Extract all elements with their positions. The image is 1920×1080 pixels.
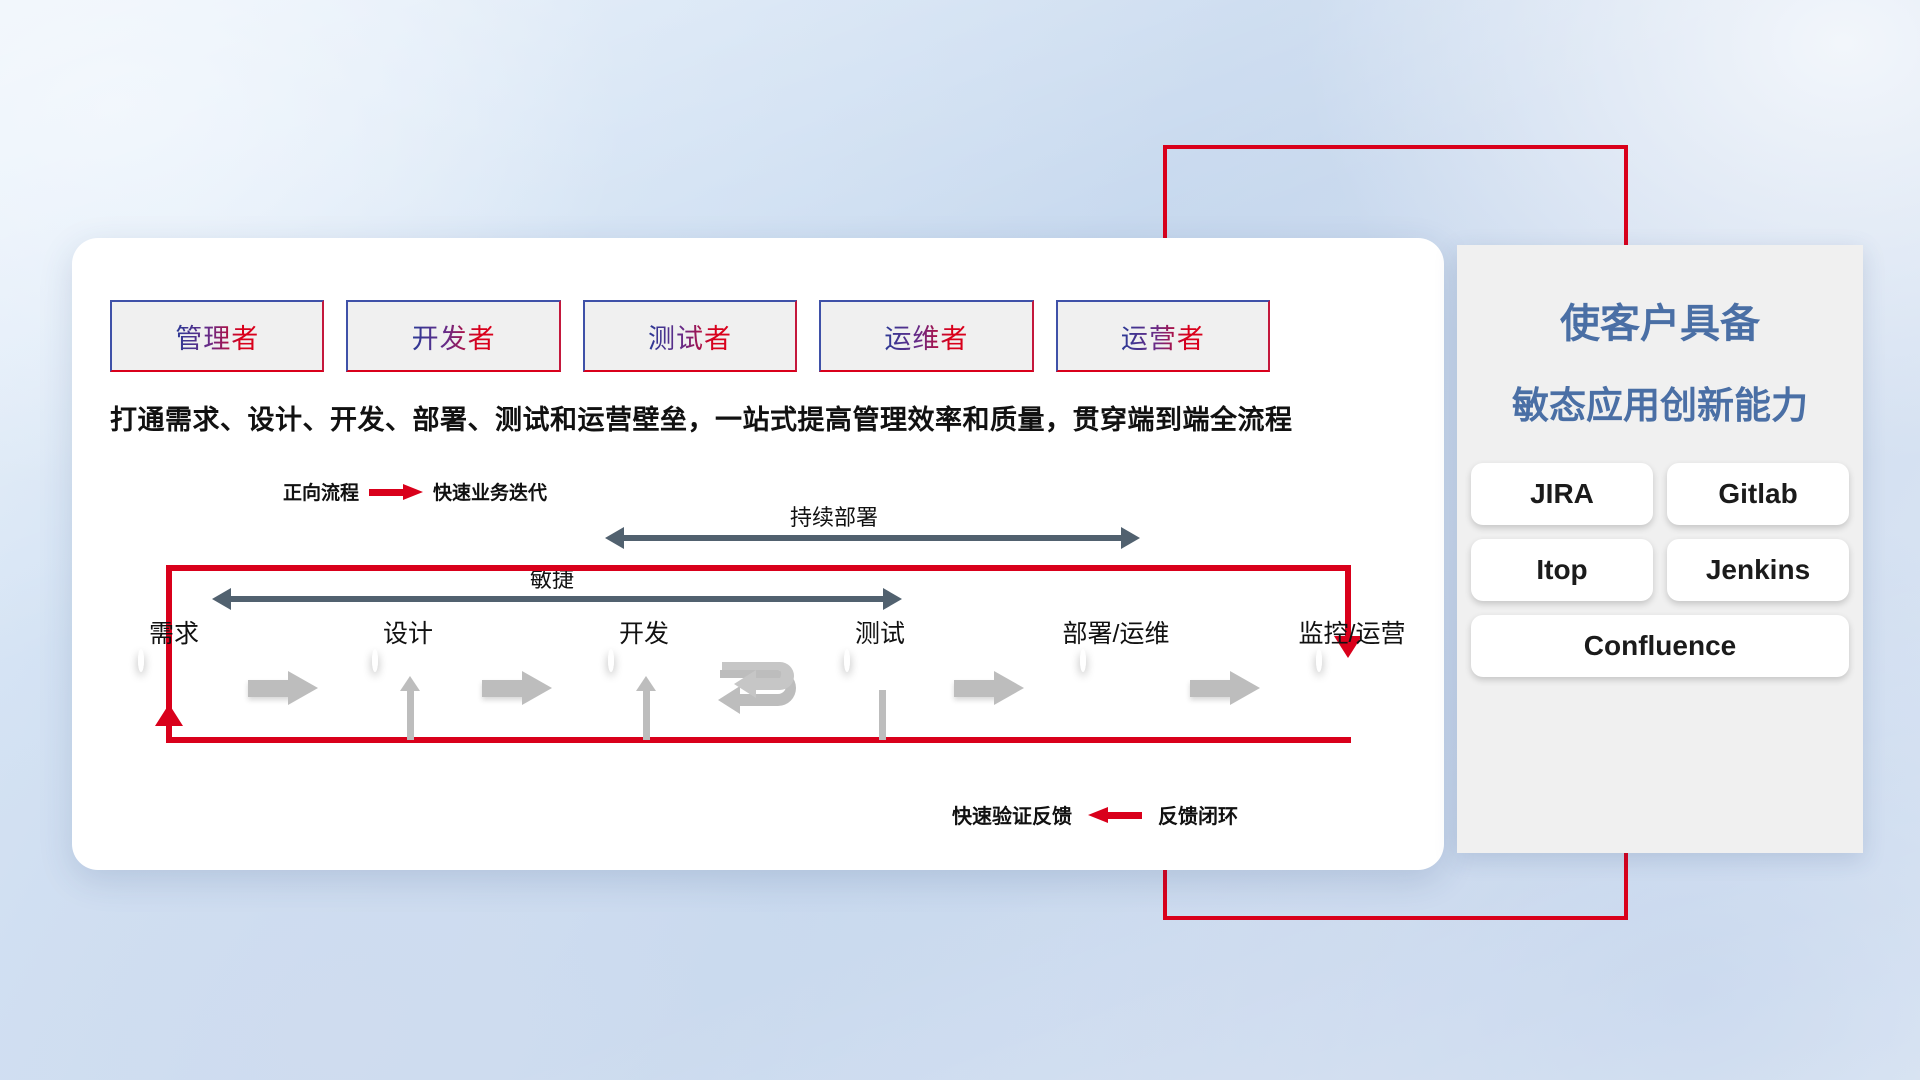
pipeline-stage-develop[interactable]: 开发 [608,652,680,724]
stage-dot-icon [1080,649,1086,672]
flow-arrow-design-to-develop [482,671,552,705]
role-label: 开发者 [412,317,496,356]
arrow-right-head-icon [1121,527,1140,549]
forward-flow-label: 正向流程 [283,478,359,505]
feedback-loop-bottom-edge [166,737,1351,743]
arrow-right-head-icon [994,671,1024,705]
flow-arrow-requirement-to-design [248,671,318,705]
feedback-loop-label: 反馈闭环 [1158,800,1238,829]
headline-text: 打通需求、设计、开发、部署、测试和运营壁垒，一站式提高管理效率和质量，贯穿端到端… [110,398,1400,437]
stage-dot-icon [1316,649,1322,672]
iteration-loop-arrow-icon [710,652,826,728]
tool-chip-gitlab[interactable]: Gitlab [1667,463,1849,525]
pipeline-stage-monitor-operate[interactable]: 监控/运营 [1316,652,1388,724]
role-box-operations-engineer[interactable]: 运维者 [819,300,1033,372]
role-label: 测试者 [648,317,732,356]
role-label: 管理者 [175,317,259,356]
pipeline-stage-label: 测试 [855,614,905,650]
panel-heading-line2: 敏态应用创新能力 [1457,375,1863,429]
pipeline-stage-deploy-ops[interactable]: 部署/运维 [1080,652,1152,724]
arrow-shaft [622,535,1123,541]
role-box-business-operator[interactable]: 运营者 [1056,300,1270,372]
role-box-manager[interactable]: 管理者 [110,300,324,372]
feedback-legend: 快速验证反馈 反馈闭环 [952,800,1238,829]
role-label: 运维者 [884,317,968,356]
arrow-right-head-icon [522,671,552,705]
forward-flow-result-label: 快速业务迭代 [433,478,547,505]
tool-chip-itop[interactable]: Itop [1471,539,1653,601]
devops-pipeline: 需求 设计 开发 测试 部署/运维 监控/运营 [110,612,1380,732]
arrow-right-head-icon [1230,671,1260,705]
role-boxes-row: 管理者 开发者 测试者 运维者 运营者 [110,300,1270,372]
value-proposition-panel: 使客户具备 敏态应用创新能力 JIRA Gitlab Itop Jenkins … [1457,245,1863,853]
pipeline-stage-label: 部署/运维 [1063,614,1170,650]
stage-dot-icon [138,649,144,672]
stage-dot-icon [844,649,850,672]
flow-arrow-test-to-deploy [954,671,1024,705]
arrow-left-red-icon [1088,807,1142,823]
feedback-result-label: 快速验证反馈 [952,800,1072,829]
role-box-developer[interactable]: 开发者 [346,300,560,372]
tool-chip-confluence[interactable]: Confluence [1471,615,1849,677]
tool-chip-jenkins[interactable]: Jenkins [1667,539,1849,601]
pipeline-stage-label: 需求 [149,614,199,650]
role-box-tester[interactable]: 测试者 [583,300,797,372]
continuous-deployment-span-arrow [605,527,1140,549]
pipeline-stage-requirement[interactable]: 需求 [138,652,210,724]
panel-heading-line1: 使客户具备 [1457,291,1863,349]
arrow-right-head-icon [288,671,318,705]
arrow-shaft [248,680,292,697]
pipeline-stage-test[interactable]: 测试 [844,652,916,724]
arrow-shaft [1190,680,1234,697]
stage-dot-icon [372,649,378,672]
forward-flow-legend: 正向流程 快速业务迭代 [283,478,547,505]
arrow-right-head-icon [883,588,902,610]
pipeline-stage-label: 设计 [383,614,433,650]
tool-chip-jira[interactable]: JIRA [1471,463,1653,525]
arrow-shaft [954,680,998,697]
agile-span-arrow [212,588,902,610]
pipeline-stage-label: 监控/运营 [1299,614,1406,650]
pipeline-stage-label: 开发 [619,614,669,650]
tool-chip-list: JIRA Gitlab Itop Jenkins Confluence [1471,463,1849,677]
arrow-shaft [229,596,885,602]
stage-dot-icon [608,649,614,672]
role-label: 运营者 [1121,317,1205,356]
arrow-shaft [482,680,526,697]
pipeline-stage-design[interactable]: 设计 [372,652,444,724]
arrow-right-red-icon [369,484,423,500]
feedback-loop-top-edge [166,565,1351,571]
flow-arrow-deploy-to-monitor [1190,671,1260,705]
